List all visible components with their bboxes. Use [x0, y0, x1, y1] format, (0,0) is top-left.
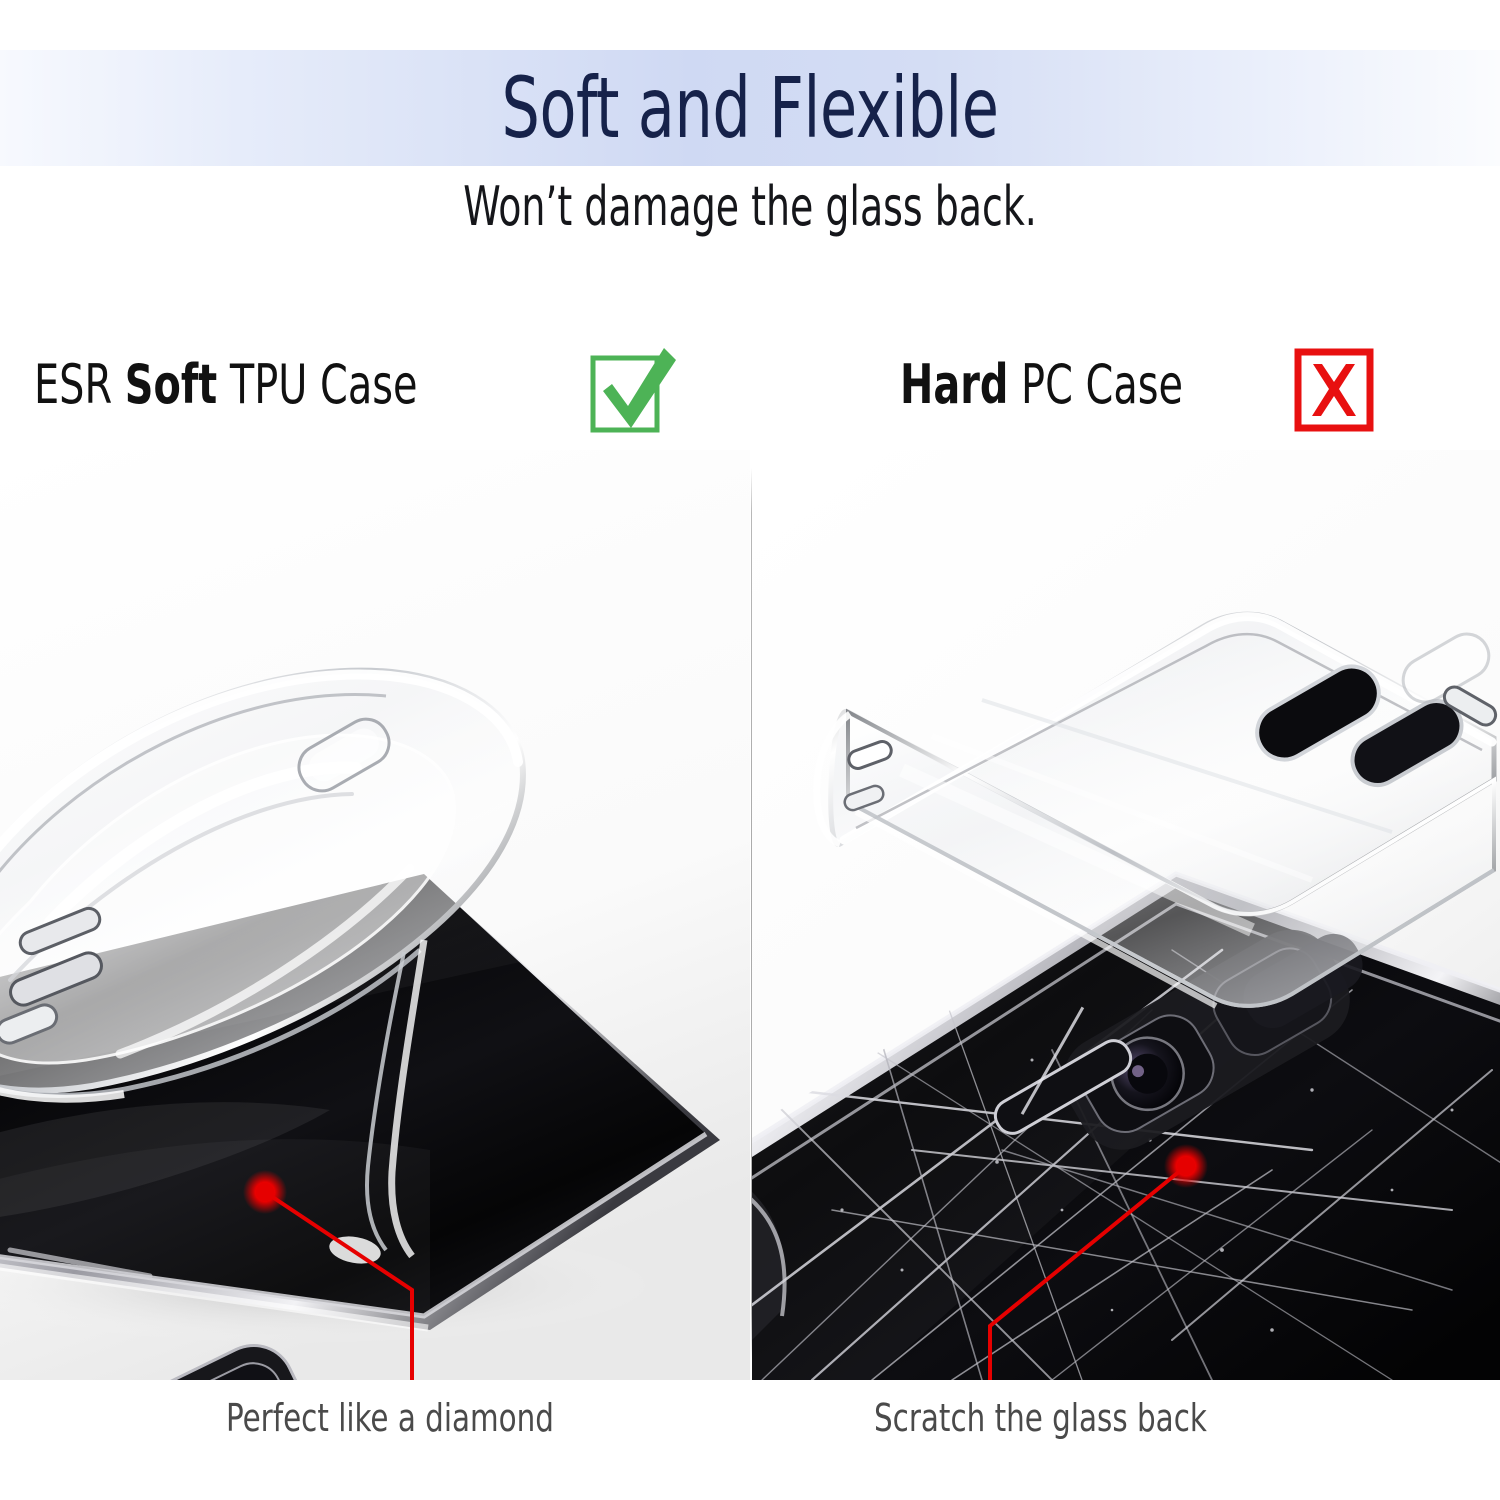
check-mark-icon [590, 344, 678, 436]
right-product-photo [752, 450, 1500, 1380]
right-case-label-group: Hard PC Case [900, 330, 1245, 440]
left-caption: Perfect like a diamond [226, 1394, 554, 1442]
right-label-emphasis: Hard [900, 353, 1008, 416]
left-case-label: ESR Soft TPU Case [34, 354, 418, 416]
right-caption: Scratch the glass back [874, 1394, 1207, 1442]
comparison-label-row: ESR Soft TPU Case Hard PC Case [0, 330, 1500, 440]
left-case-label-group: ESR Soft TPU Case [34, 330, 502, 440]
left-label-prefix: ESR [34, 353, 125, 416]
right-case-label: Hard PC Case [900, 354, 1183, 416]
left-label-suffix: TPU Case [217, 353, 417, 416]
left-label-emphasis: Soft [125, 353, 217, 416]
right-label-suffix: PC Case [1008, 353, 1183, 416]
left-product-photo [0, 450, 750, 1380]
product-comparison-graphic: Soft and Flexible Won’t damage the glass… [0, 0, 1500, 1500]
cross-mark-icon [1292, 344, 1380, 436]
page-subtitle: Won’t damage the glass back. [165, 174, 1335, 240]
page-title: Soft and Flexible [150, 56, 1350, 160]
